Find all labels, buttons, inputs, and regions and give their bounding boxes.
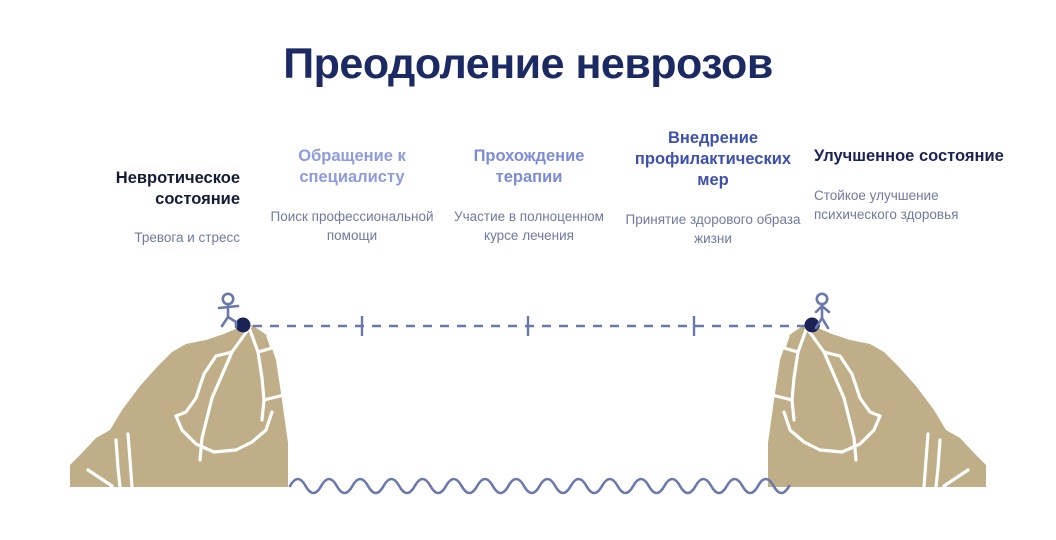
stage-subtext: Стойкое улучшение психического здоровья — [814, 187, 1004, 224]
stage-heading: Невротическое состояние — [58, 168, 240, 210]
left-mountain — [70, 325, 292, 487]
walking-stick-figure — [219, 294, 238, 327]
stage-improved-state: Улучшенное состояние Стойкое улучшение п… — [814, 128, 1004, 224]
stage-label-group: Невротическое состояние Тревога и стресс… — [0, 128, 1056, 288]
infographic-canvas: Преодоление неврозов — [0, 0, 1056, 540]
stage-heading: Обращение к специалисту — [268, 146, 436, 188]
standing-stick-figure — [816, 294, 829, 328]
stage-heading: Внедрение профилактических мер — [620, 128, 806, 191]
stage-therapy-course: Прохождение терапии Участие в полноценно… — [448, 128, 610, 245]
stage-preventive-measures: Внедрение профилактических мер Принятие … — [620, 128, 806, 248]
path-start-dot — [236, 318, 251, 333]
wavy-water-line — [290, 479, 789, 493]
stage-heading: Улучшенное состояние — [814, 146, 1004, 167]
right-mountain — [764, 325, 986, 487]
dashed-journey-path — [236, 316, 821, 336]
stage-subtext: Поиск профессиональной помощи — [268, 208, 436, 245]
stage-subtext: Тревога и стресс — [58, 229, 240, 248]
stage-subtext: Принятие здорового образа жизни — [620, 211, 806, 248]
stage-specialist-referral: Обращение к специалисту Поиск профессион… — [268, 128, 436, 245]
stage-neurotic-state: Невротическое состояние Тревога и стресс — [58, 128, 240, 248]
stage-heading: Прохождение терапии — [448, 146, 610, 188]
stage-subtext: Участие в полноценном курсе лечения — [448, 208, 610, 245]
